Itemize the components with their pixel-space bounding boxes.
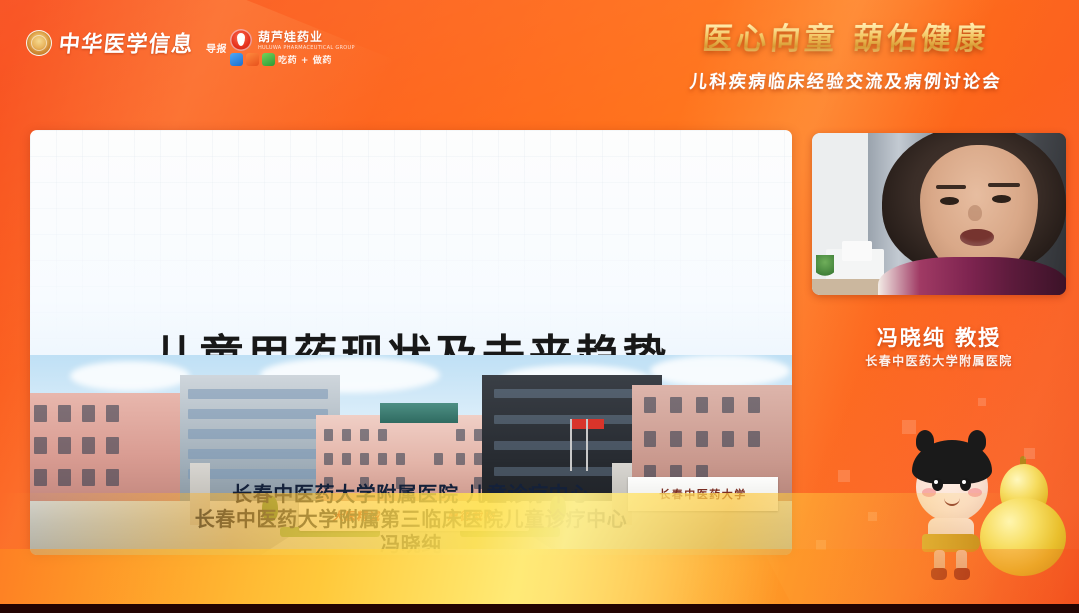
logo-chinese-medical-information-herald: 中华医学信息 导报 [26,28,227,58]
mascot-hair-tuft [916,430,934,452]
confetti-square [838,470,850,482]
bottom-letterbox-bar [0,604,1079,613]
nose [968,205,982,221]
broadcast-stage: 中华医学信息 导报 葫芦娃药业 HULUWA PHARMACEUTICAL GR… [0,0,1079,613]
logo-latin-name: HULUWA PHARMACEUTICAL GROUP [258,45,355,51]
app-chip-icon [246,53,259,66]
mouth [960,229,994,246]
clothing [878,257,1066,295]
mascot-hair-tuft [968,430,986,452]
speaker-video-feed[interactable] [812,133,1066,295]
speaker-organization: 长春中医药大学附属医院 [812,352,1066,369]
logo-wordmark: 葫芦娃药业 [258,28,355,45]
speaker-portrait [876,133,1066,295]
event-title: 医心向童 葫佑健康 [629,14,1063,58]
flag-pole [570,419,572,471]
logo-suffix: 导报 [205,40,228,58]
confetti-square [902,420,916,434]
app-chip-icon [230,53,243,66]
presentation-slide[interactable]: 儿童用药现状及未来趋势 [30,130,792,555]
app-chip-icon [262,53,275,66]
speaker-name: 冯晓纯 教授 [812,322,1066,352]
event-subtitle: 儿科疾病临床经验交流及病例讨论会 [630,67,1062,93]
confetti-square [1024,448,1035,459]
event-title-block: 医心向童 葫佑健康 儿科疾病临床经验交流及病例讨论会 [631,14,1061,92]
seal-icon [26,30,52,56]
header-banner: 中华医学信息 导报 葫芦娃药业 HULUWA PHARMACEUTICAL GR… [0,0,1079,112]
gourd-badge-icon [230,29,252,51]
slide-grid-texture [30,130,792,350]
room-plant [816,255,834,279]
flag-pole [586,419,588,471]
roof [380,403,458,423]
room-cabinet [842,241,872,261]
confetti-square [978,398,986,406]
cloud [650,355,790,387]
logo-wordmark: 中华医学信息 [57,27,195,59]
cloud [70,361,190,391]
logo-slogan: 吃药 + 做药 [278,53,332,66]
logo-huluwa-pharmaceutical: 葫芦娃药业 HULUWA PHARMACEUTICAL GROUP 吃药 + 做… [230,28,355,66]
